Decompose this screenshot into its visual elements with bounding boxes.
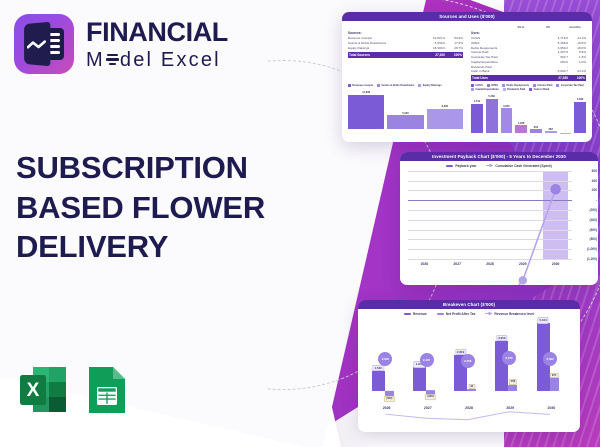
bar-value-label: 5,469 [488,95,495,98]
poster-canvas: FINANCIAL M del Excel SUBSCRIPTION BASED… [0,0,600,447]
panel-breakeven-title: Breakeven Chart ($'000) [358,300,580,309]
legend-label: Grants & Debts Drawdowns [382,84,415,87]
legend-item: Revenue Breakeven level [485,312,534,316]
microsoft-excel-icon: X [18,363,68,417]
legend-swatch-cumulative-cash [486,165,493,166]
bar [515,125,527,133]
chart-uses-breakdown[interactable]: COGSOPEXDebts RepaymentsInterest PaidCor… [471,84,586,133]
bar [348,95,384,129]
legend-swatch [471,84,474,87]
panel-breakeven-chart[interactable]: Breakeven Chart ($'000) Revenue Net Prof… [358,300,580,432]
axis-tick-label: - [596,198,597,202]
axis-tick-label: 600 [592,169,597,173]
bar [545,131,557,133]
table-row: 283 [545,93,557,133]
table-row: Cash in Bank 5,060.7 24.1% [471,69,586,74]
brand-secondary-suffix: del Excel [120,50,221,70]
legend-item: Dividends Paid [503,88,525,91]
legend-item: Cumulative Cash Generated (Spent) [486,164,551,168]
legend-swatch-breakeven-level [485,313,492,314]
left-content-column: FINANCIAL M del Excel SUBSCRIPTION BASED… [0,0,330,447]
legend-swatch [348,84,351,87]
svg-text:X: X [27,380,40,401]
page-title: SUBSCRIPTION BASED FLOWER DELIVERY [16,148,316,267]
legend-label: Interest Paid [537,84,552,87]
legend-item: Grants & Debts Drawdowns [377,84,414,87]
bar [574,102,586,133]
table-row: Equity Raisings 18,900.0 28.7% [348,46,463,51]
brand-name-primary: FINANCIAL [86,19,228,46]
axis-tick-label: 400 [592,179,597,183]
logo-chart-wave-icon [27,40,46,50]
axis-tick-label: 200 [592,188,597,192]
sources-uses-table-region: First 60 months Sources: Revenue receipt… [342,21,592,81]
panel-payback-title: Investment Payback Chart ($'000) - 5 Yea… [400,152,598,161]
table-row: - [560,93,572,133]
axis-tick-label: (200) [590,208,597,212]
legend-item: Cash in Bank [529,88,549,91]
file-format-icons: X [18,363,132,417]
bar [501,108,513,133]
column-header: 60 [537,25,559,29]
breakeven-level-line [366,320,572,432]
legend-item: Equity Raisings [418,84,441,87]
legend-label: Equity Raisings [423,84,442,87]
legend-swatch [377,84,380,87]
bar [387,115,423,129]
brand-lockup: FINANCIAL M del Excel [14,14,228,74]
column-header: months [564,25,586,29]
legend-label: Corporate Tax Paid [561,84,584,87]
chart-uses-legend: COGSOPEXDebts RepaymentsInterest PaidCor… [471,84,586,91]
legend-swatch [487,84,490,87]
chart-uses-bars: 4,7195,4693,9501,268603283-5,060 [471,93,586,133]
total-percent: 100% [445,53,463,57]
brand-name-secondary: M del Excel [86,50,228,70]
sources-total-row: Total Sources 27,300 100% [348,52,463,58]
bar-value-label: 1,268 [518,122,525,125]
breakeven-level-bubble: 2,456 [461,354,475,368]
legend-label: Dividends Paid [507,88,525,91]
legend-swatch [556,84,559,87]
row-percent: 24.1% [568,69,586,74]
bar-value-label: - [565,129,566,132]
axis-tick-label: (1,200) [587,257,597,261]
legend-label: Payback year [455,164,476,168]
uses-total-row: Total Uses 27,350 100% [471,75,586,81]
brand-secondary-prefix: M [86,50,105,70]
legend-item: Debts Repayments [502,84,529,87]
legend-swatch [529,88,532,91]
panel-payback-legend: Payback year Cumulative Cash Generated (… [400,161,598,169]
bar-value-label: 283 [548,128,552,131]
logo-o-glyph-icon [106,52,119,67]
legend-label: OPEX [491,84,498,87]
payback-y-axis-labels: 600400200-(200)(400)(600)(800)(1,000)(1,… [573,171,597,259]
legend-label: Revenue Breakeven level [494,312,534,316]
table-row: 14,808 [348,89,384,129]
sources-column: Sources: Revenue receipts 14,807.9 53.9%… [348,31,463,81]
panel-sources-and-uses[interactable]: Sources and Uses ($'000) First 60 months… [342,12,592,142]
legend-item: Interest Paid [533,84,552,87]
legend-swatch [471,88,474,91]
legend-item: COGS [471,84,483,87]
legend-item: Net Profit After Tax [437,312,476,316]
total-label: Total Sources [348,53,423,57]
chart-sources-legend: Revenue receiptsGrants & Debts Drawdowns… [348,84,463,87]
bar-value-label: 603 [534,126,538,129]
row-percent: 28.7% [445,46,463,51]
legend-label: Cash in Bank [534,88,550,91]
breakeven-plot-area: 1,540(462)2,6301,848(330)2,4972,819422,4… [366,320,572,402]
table-row: 8,900 [427,89,463,129]
brand-wordmark: FINANCIAL M del Excel [86,19,228,70]
legend-swatch [503,88,506,91]
table-row: 603 [530,93,542,133]
axis-tick-label: (1,000) [587,247,597,251]
legend-swatch-revenue [404,313,411,315]
payback-cumulative-cash-line [408,171,572,285]
bar [471,104,483,133]
bar-value-label: 5,060 [577,98,584,101]
table-row: 4,719 [471,93,483,133]
breakeven-level-bubble: 2,497 [420,353,434,367]
column-header: First [510,25,532,29]
legend-swatch-net-profit [437,313,444,315]
breakeven-level-bubble: 2,630 [378,352,392,366]
sources-heading: Sources: [348,31,463,35]
legend-swatch [502,84,505,87]
total-label: Total Uses [471,76,546,80]
bar-value-label: 3,950 [503,105,510,108]
table-row: 5,930 [387,89,423,129]
legend-label: Revenue [413,312,427,316]
legend-label: Debts Repayments [507,84,530,87]
row-value: 5,060.7 [546,69,568,74]
bar [486,99,498,133]
legend-label: Cumulative Cash Generated (Spent) [495,164,551,168]
table-row: 1,268 [515,93,527,133]
sources-uses-charts-region: Revenue receiptsGrants & Debts Drawdowns… [342,81,592,135]
legend-swatch-payback-year [446,165,453,167]
breakeven-level-bubble: 2,705 [502,351,516,365]
row-label: Cash in Bank [471,69,546,74]
table-row: 5,060 [574,93,586,133]
legend-item: Payback year [446,164,476,168]
payback-plot-area: 600400200-(200)(400)(600)(800)(1,000)(1,… [408,171,572,259]
uses-heading: Uses: [471,31,586,35]
bar-value-label: 4,719 [474,100,481,103]
axis-tick-label: (800) [590,237,597,241]
total-value: 27,350 [546,76,568,80]
bar [427,109,463,129]
bar-value-label: 5,930 [402,112,409,115]
table-row: 3,950 [501,93,513,133]
financial-model-excel-logo-icon [14,14,74,74]
row-label: Equity Raisings [348,46,423,51]
legend-label: Revenue receipts [352,84,373,87]
legend-item: Revenue receipts [348,84,373,87]
legend-item: Capital Expenditure [471,88,499,91]
sources-uses-column-headers: First 60 months [348,24,586,31]
legend-item: Revenue [404,312,427,316]
total-value: 27,300 [423,53,445,57]
axis-tick-label: (600) [590,228,597,232]
bar-value-label: 14,808 [362,91,370,94]
legend-item: Corporate Tax Paid [556,84,583,87]
uses-column: Uses: COGS 4,719.6 24.1% OPEX 5,468.8 19… [471,31,586,81]
bar [530,129,542,133]
legend-label: COGS [475,84,482,87]
panel-breakeven-legend: Revenue Net Profit After Tax Revenue Bre… [358,309,580,317]
legend-swatch [533,84,536,87]
table-row: 5,469 [486,93,498,133]
chart-sources-breakdown[interactable]: Revenue receiptsGrants & Debts Drawdowns… [348,84,463,133]
total-percent: 100% [568,76,586,80]
panel-sources-title: Sources and Uses ($'000) [342,12,592,21]
panel-investment-payback[interactable]: Investment Payback Chart ($'000) - 5 Yea… [400,152,598,285]
legend-label: Net Profit After Tax [446,312,476,316]
legend-swatch [418,84,421,87]
legend-label: Capital Expenditure [475,88,498,91]
axis-tick-label: (400) [590,218,597,222]
row-value: 18,900.0 [423,46,445,51]
google-sheets-icon [82,363,132,417]
breakeven-level-bubble: 2,622 [543,352,557,366]
bar-value-label: 8,900 [442,105,449,108]
legend-item: OPEX [487,84,498,87]
chart-sources-bars: 14,8085,9308,900 [348,89,463,129]
